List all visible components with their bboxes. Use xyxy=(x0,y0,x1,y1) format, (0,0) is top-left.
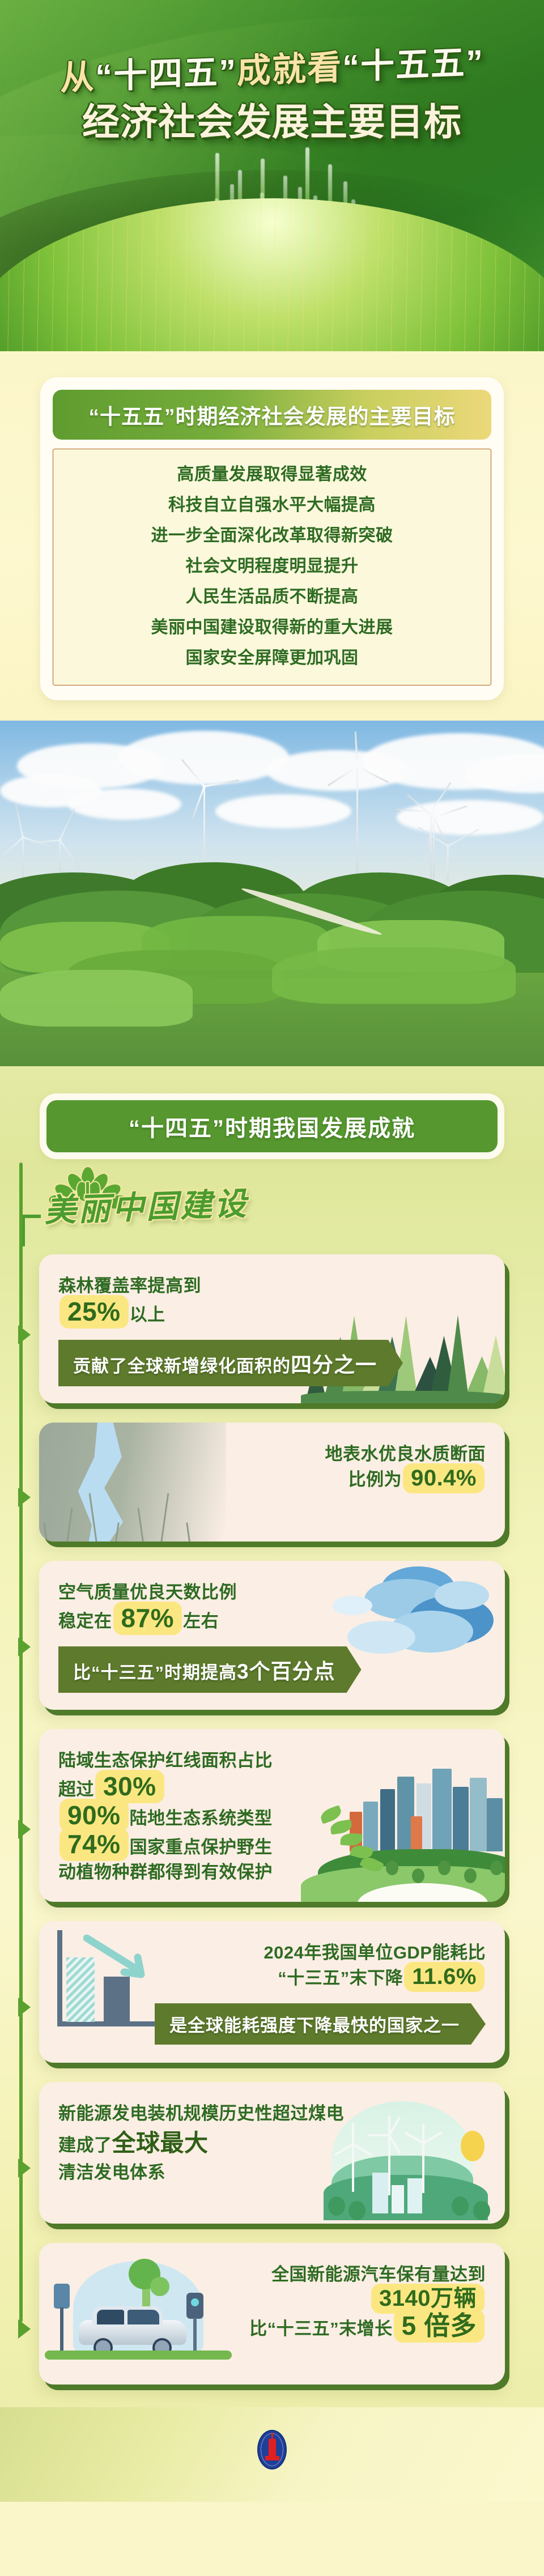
wind-solar-landscape-photo xyxy=(0,721,544,1066)
achievement-text: 陆域生态保护红线面积占比 xyxy=(58,1751,273,1770)
goals-list: 高质量发展取得显著成效科技自立自强水平大幅提高进一步全面深化改革取得新突破社会文… xyxy=(53,449,491,685)
achievement-text: “十三五”末下降 xyxy=(278,1968,403,1988)
timeline-marker-icon xyxy=(18,1998,31,2017)
achievement-line: 地表水优良水质断面 xyxy=(58,1442,486,1467)
highlight-stat: 90.4% xyxy=(403,1467,484,1489)
achievement-card-air-quality-days: 空气质量优良天数比例稳定在87%左右比“十三五”时期提高3个百分点 xyxy=(39,1561,505,1710)
highlight-stat: 90% xyxy=(59,1802,129,1828)
achievement-card-surface-water-quality: 地表水优良水质断面比例为90.4% xyxy=(39,1423,505,1542)
hero-title-seg-achievements: 成就看 xyxy=(237,48,342,90)
timeline-marker-icon xyxy=(18,1488,31,1507)
highlight-stat: 74% xyxy=(59,1831,129,1857)
wind-turbine-icon xyxy=(436,834,459,868)
corner-bracket-icon xyxy=(22,1215,41,1246)
achievement-line: “十三五”末下降11.6% xyxy=(58,1965,486,1991)
achievements-header: “十四五”时期我国发展成就 xyxy=(40,1093,504,1159)
goal-item: 科技自立自强水平大幅提高 xyxy=(65,497,479,514)
achievement-card-nev-ownership: 全国新能源汽车保有量达到3140万辆比“十三五”末增长5 倍多 xyxy=(39,2243,505,2385)
banner-text: 是全球能耗强度下降最快的国家之一 xyxy=(169,2016,460,2036)
achievement-card-body: 陆域生态保护红线面积占比超过30%90%陆地生态系统类型74%国家重点保护野生动… xyxy=(39,1729,505,1902)
achievement-line: 稳定在87%左右 xyxy=(58,1605,486,1634)
banner-highlight: 四分之一 xyxy=(291,1353,377,1377)
achievement-line: 比例为90.4% xyxy=(58,1467,486,1492)
highlight-stat: 25% xyxy=(59,1298,129,1325)
goal-item: 国家安全屏障更加巩固 xyxy=(65,650,479,667)
achievement-card-new-energy-capacity: 新能源发电装机规模历史性超过煤电建成了全球最大清洁发电体系 xyxy=(39,2082,505,2224)
hero-title-seg-14th: “十四五” xyxy=(95,52,237,96)
page-footer xyxy=(0,2407,544,2502)
achievements-section: “十四五”时期我国发展成就 美丽中国建设 森林覆盖率提高到25%以上贡献了全球新… xyxy=(0,1066,544,2407)
achievement-card-body: 森林覆盖率提高到25%以上贡献了全球新增绿化面积的四分之一 xyxy=(39,1254,505,1403)
brand-subtitle-block: 美丽中国建设 xyxy=(0,1172,544,1251)
hero-banner: 从“十四五”成就看“十五五” 经济社会发展主要目标 xyxy=(0,0,544,351)
field-patch xyxy=(272,947,516,1004)
highlight-stat: 87% xyxy=(113,1605,182,1631)
timeline-marker-icon xyxy=(18,1637,31,1657)
goals-card: “十五五”时期经济社会发展的主要目标 高质量发展取得显著成效科技自立自强水平大幅… xyxy=(40,377,504,700)
highlight-stat: 3140万辆 xyxy=(371,2287,484,2310)
achievement-text: 建成了 xyxy=(58,2135,112,2155)
achievement-line: 森林覆盖率提高到 xyxy=(58,1274,486,1298)
achievement-card-list: 森林覆盖率提高到25%以上贡献了全球新增绿化面积的四分之一地表水优良水质断面比例… xyxy=(0,1251,544,2407)
timeline-marker-icon xyxy=(18,2319,31,2339)
goals-card-header: “十五五”时期经济社会发展的主要目标 xyxy=(53,390,491,440)
achievement-card-body: 空气质量优良天数比例稳定在87%左右比“十三五”时期提高3个百分点 xyxy=(39,1561,505,1710)
achievement-text: 森林覆盖率提高到 xyxy=(58,1276,201,1296)
goals-heading: “十五五”时期经济社会发展的主要目标 xyxy=(89,399,456,430)
achievement-text: 空气质量优良天数比例 xyxy=(58,1582,237,1602)
achievement-line: 建成了全球最大 xyxy=(58,2126,486,2160)
highlight-stat: 5 倍多 xyxy=(394,2313,484,2339)
goal-item: 人民生活品质不断提高 xyxy=(65,589,479,606)
highlight-stat: 11.6% xyxy=(404,1965,484,1988)
achievement-banner: 贡献了全球新增绿化面积的四分之一 xyxy=(58,1340,403,1386)
banner-text: 比“十三五”时期提高 xyxy=(73,1663,237,1683)
timeline-marker-icon xyxy=(18,1325,31,1344)
achievement-line: 清洁发电体系 xyxy=(58,2160,486,2185)
infographic-page: 从“十四五”成就看“十五五” 经济社会发展主要目标 “十五五”时期经济社会发展的… xyxy=(0,0,544,2502)
goal-item: 进一步全面深化改革取得新突破 xyxy=(65,527,479,544)
achievement-line: 25%以上 xyxy=(58,1298,486,1327)
achievement-card-body: 全国新能源汽车保有量达到3140万辆比“十三五”末增长5 倍多 xyxy=(39,2243,505,2358)
achievement-text: 地表水优良水质断面 xyxy=(325,1444,486,1464)
banner-text: 贡献了全球新增绿化面积的 xyxy=(73,1356,291,1376)
achievement-text: 左右 xyxy=(183,1611,219,1631)
achievement-text: 陆地生态系统类型 xyxy=(130,1808,273,1828)
cloud-shape xyxy=(215,794,351,828)
achievement-card-ecological-redline: 陆域生态保护红线面积占比超过30%90%陆地生态系统类型74%国家重点保护野生动… xyxy=(39,1729,505,1902)
emphasis-text: 全球最大 xyxy=(112,2130,209,2156)
achievement-line: 3140万辆 xyxy=(58,2287,486,2313)
goal-item: 社会文明程度明显提升 xyxy=(65,558,479,575)
achievement-line: 超过30% xyxy=(58,1773,486,1802)
achievement-banner: 是全球能耗强度下降最快的国家之一 xyxy=(155,2003,486,2045)
xinhua-logo-icon xyxy=(257,2430,287,2469)
field-patch xyxy=(0,970,193,1027)
achievement-text: 全国新能源汽车保有量达到 xyxy=(271,2264,486,2284)
achievement-card-body: 地表水优良水质断面比例为90.4% xyxy=(39,1423,505,1509)
wind-turbine-icon xyxy=(48,828,71,862)
achievement-card-body: 新能源发电装机规模历史性超过煤电建成了全球最大清洁发电体系 xyxy=(39,2082,505,2202)
achievement-card-forest-coverage: 森林覆盖率提高到25%以上贡献了全球新增绿化面积的四分之一 xyxy=(39,1254,505,1403)
achievement-text: 比例为 xyxy=(348,1470,402,1489)
achievement-text: 新能源发电装机规模历史性超过煤电 xyxy=(58,2104,344,2123)
hero-title-line-1: 从“十四五”成就看“十五五” xyxy=(0,42,544,99)
achievement-text: 清洁发电体系 xyxy=(58,2162,165,2182)
hero-title-seg-from: 从 xyxy=(60,58,95,97)
achievement-line: 陆域生态保护红线面积占比 xyxy=(58,1748,486,1773)
goal-item: 高质量发展取得显著成效 xyxy=(65,466,479,483)
brand-subtitle: 美丽中国建设 xyxy=(44,1178,249,1232)
highlight-stat: 30% xyxy=(95,1773,164,1799)
achievement-banner: 比“十三五”时期提高3个百分点 xyxy=(58,1646,362,1693)
achievement-line: 空气质量优良天数比例 xyxy=(58,1580,486,1605)
achievement-text: 国家重点保护野生 xyxy=(130,1837,273,1857)
achievement-line: 全国新能源汽车保有量达到 xyxy=(58,2262,486,2287)
achievement-line: 比“十三五”末增长5 倍多 xyxy=(58,2313,486,2341)
achievement-text: 超过 xyxy=(58,1779,94,1799)
wind-turbine-icon xyxy=(346,755,368,876)
achievement-text: 以上 xyxy=(130,1305,165,1325)
wind-turbine-icon xyxy=(11,825,34,865)
achievement-text: 2024年我国单位GDP能耗比 xyxy=(263,1943,486,1962)
achievement-line: 2024年我国单位GDP能耗比 xyxy=(58,1940,486,1965)
achievement-line: 90%陆地生态系统类型 xyxy=(58,1802,486,1831)
timeline-marker-icon xyxy=(18,2158,31,2178)
achievement-line: 74%国家重点保护野生 xyxy=(58,1831,486,1860)
achievement-text: 稳定在 xyxy=(58,1611,112,1631)
hero-title-seg-15th: “十五五” xyxy=(342,43,484,87)
achievement-text: 比“十三五”末增长 xyxy=(249,2319,393,2339)
hero-title-line-2: 经济社会发展主要目标 xyxy=(0,103,544,142)
goal-item: 美丽中国建设取得新的重大进展 xyxy=(65,619,479,636)
hero-title-group: 从“十四五”成就看“十五五” 经济社会发展主要目标 xyxy=(0,52,544,142)
achievement-card-gdp-energy-intensity: 2024年我国单位GDP能耗比“十三五”末下降11.6%是全球能耗强度下降最快的… xyxy=(39,1921,505,2063)
achievements-heading: “十四五”时期我国发展成就 xyxy=(129,1110,415,1143)
achievement-line: 动植物种群都得到有效保护 xyxy=(58,1860,486,1885)
timeline-marker-icon xyxy=(18,1820,31,1839)
achievement-card-body: 2024年我国单位GDP能耗比“十三五”末下降11.6%是全球能耗强度下降最快的… xyxy=(39,1921,505,2062)
achievement-line: 新能源发电装机规模历史性超过煤电 xyxy=(58,2101,486,2126)
goals-section: “十五五”时期经济社会发展的主要目标 高质量发展取得显著成效科技自立自强水平大幅… xyxy=(0,351,544,721)
achievement-text: 动植物种群都得到有效保护 xyxy=(58,1862,273,1882)
banner-highlight: 3个百分点 xyxy=(237,1660,335,1683)
